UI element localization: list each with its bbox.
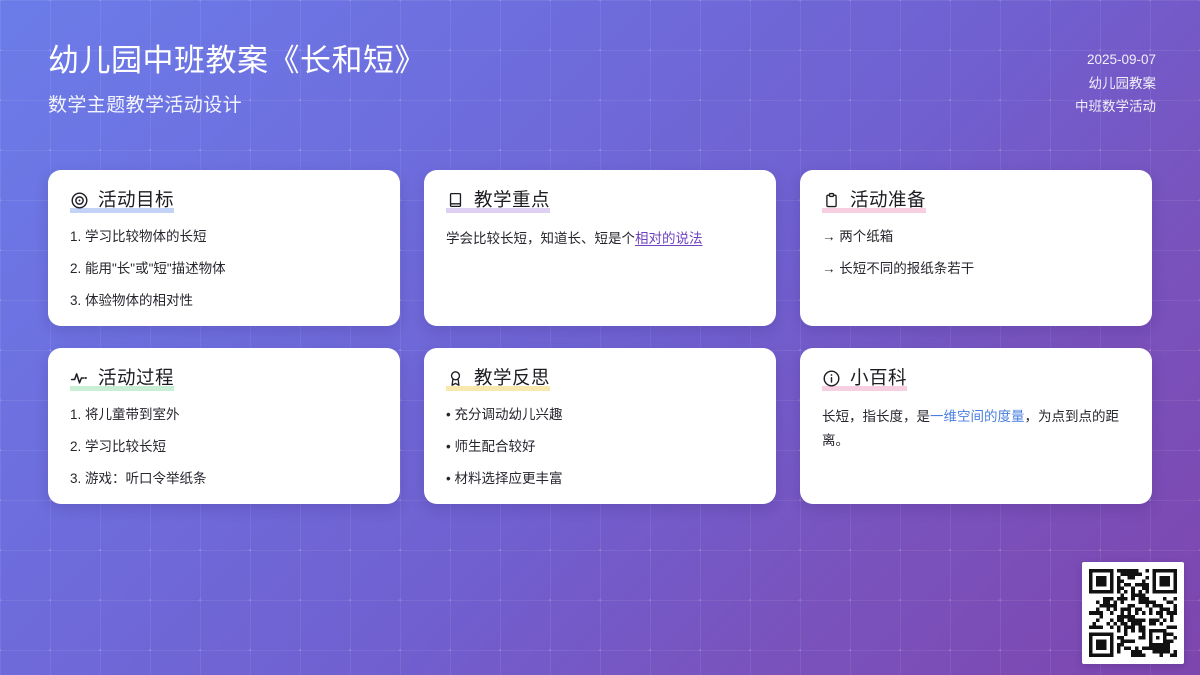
card-body-encyclopedia: 长短，指长度，是一维空间的度量，为点到点的距离。 bbox=[822, 405, 1130, 451]
card-title: 教学反思 bbox=[474, 368, 550, 388]
card-reflection: 教学反思• 充分调动幼儿兴趣• 师生配合较好• 材料选择应更丰富 bbox=[424, 348, 776, 504]
card-body-reflection: • 充分调动幼儿兴趣• 师生配合较好• 材料选择应更丰富 bbox=[446, 405, 754, 490]
card-process: 活动过程1. 将儿童带到室外2. 学习比较长短3. 游戏：听口令举纸条 bbox=[48, 348, 400, 504]
card-encyclopedia: 小百科长短，指长度，是一维空间的度量，为点到点的距离。 bbox=[800, 348, 1152, 504]
card-body-materials: → 两个纸箱→ 长短不同的报纸条若干 bbox=[822, 227, 1130, 280]
list-item: • 材料选择应更丰富 bbox=[446, 469, 754, 490]
list-item: 1. 学习比较物体的长短 bbox=[70, 227, 378, 248]
page-subtitle: 数学主题教学活动设计 bbox=[48, 90, 426, 117]
qr-code-image bbox=[1089, 569, 1177, 657]
list-item: 3. 游戏：听口令举纸条 bbox=[70, 469, 378, 490]
slide-canvas: 幼儿园中班教案《长和短》 数学主题教学活动设计 2025-09-07 幼儿园教案… bbox=[0, 0, 1200, 675]
card-paragraph: 学会比较长短，知道长、短是个相对的说法 bbox=[446, 227, 754, 250]
target-icon bbox=[70, 191, 89, 210]
meta-date: 2025-09-07 bbox=[1075, 48, 1156, 72]
card-materials: 活动准备→ 两个纸箱→ 长短不同的报纸条若干 bbox=[800, 170, 1152, 326]
card-header-key-points: 教学重点 bbox=[446, 190, 550, 213]
card-header-reflection: 教学反思 bbox=[446, 368, 550, 391]
meta-category: 幼儿园教案 bbox=[1075, 72, 1156, 96]
card-body-objectives: 1. 学习比较物体的长短2. 能用"长"或"短"描述物体3. 体验物体的相对性 bbox=[70, 227, 378, 312]
card-header-process: 活动过程 bbox=[70, 368, 174, 391]
qr-code[interactable] bbox=[1082, 562, 1184, 664]
card-title: 活动准备 bbox=[850, 190, 926, 210]
card-grid: 活动目标1. 学习比较物体的长短2. 能用"长"或"短"描述物体3. 体验物体的… bbox=[48, 170, 1152, 504]
paragraph-text-before: 长短，指长度，是 bbox=[822, 409, 930, 424]
title-block: 幼儿园中班教案《长和短》 数学主题教学活动设计 bbox=[48, 42, 426, 117]
inline-link[interactable]: 一维空间的度量 bbox=[930, 409, 1025, 424]
card-title: 小百科 bbox=[850, 368, 907, 388]
card-title: 活动过程 bbox=[98, 368, 174, 388]
list-item: 1. 将儿童带到室外 bbox=[70, 405, 378, 426]
inline-link[interactable]: 相对的说法 bbox=[635, 231, 703, 246]
card-objectives: 活动目标1. 学习比较物体的长短2. 能用"长"或"短"描述物体3. 体验物体的… bbox=[48, 170, 400, 326]
page-title: 幼儿园中班教案《长和短》 bbox=[48, 42, 426, 81]
card-header-encyclopedia: 小百科 bbox=[822, 368, 907, 391]
card-title: 活动目标 bbox=[98, 190, 174, 210]
header-meta: 2025-09-07 幼儿园教案 中班数学活动 bbox=[1075, 42, 1156, 119]
list-item: 2. 能用"长"或"短"描述物体 bbox=[70, 259, 378, 280]
list-item: 3. 体验物体的相对性 bbox=[70, 291, 378, 312]
award-icon bbox=[446, 369, 465, 388]
card-header-materials: 活动准备 bbox=[822, 190, 926, 213]
card-body-process: 1. 将儿童带到室外2. 学习比较长短3. 游戏：听口令举纸条 bbox=[70, 405, 378, 490]
slide-header: 幼儿园中班教案《长和短》 数学主题教学活动设计 2025-09-07 幼儿园教案… bbox=[0, 0, 1200, 150]
clipboard-icon bbox=[822, 191, 841, 210]
list-item: • 师生配合较好 bbox=[446, 437, 754, 458]
meta-tag: 中班数学活动 bbox=[1075, 95, 1156, 119]
info-icon bbox=[822, 369, 841, 388]
card-title: 教学重点 bbox=[474, 190, 550, 210]
book-icon bbox=[446, 191, 465, 210]
card-body-key-points: 学会比较长短，知道长、短是个相对的说法 bbox=[446, 227, 754, 250]
list-item: → 两个纸箱 bbox=[822, 227, 1130, 248]
card-header-objectives: 活动目标 bbox=[70, 190, 174, 213]
list-item: • 充分调动幼儿兴趣 bbox=[446, 405, 754, 426]
list-item: → 长短不同的报纸条若干 bbox=[822, 259, 1130, 280]
paragraph-text-before: 学会比较长短，知道长、短是个 bbox=[446, 231, 635, 246]
activity-icon bbox=[70, 369, 89, 388]
list-item: 2. 学习比较长短 bbox=[70, 437, 378, 458]
card-paragraph: 长短，指长度，是一维空间的度量，为点到点的距离。 bbox=[822, 405, 1130, 451]
card-key-points: 教学重点学会比较长短，知道长、短是个相对的说法 bbox=[424, 170, 776, 326]
